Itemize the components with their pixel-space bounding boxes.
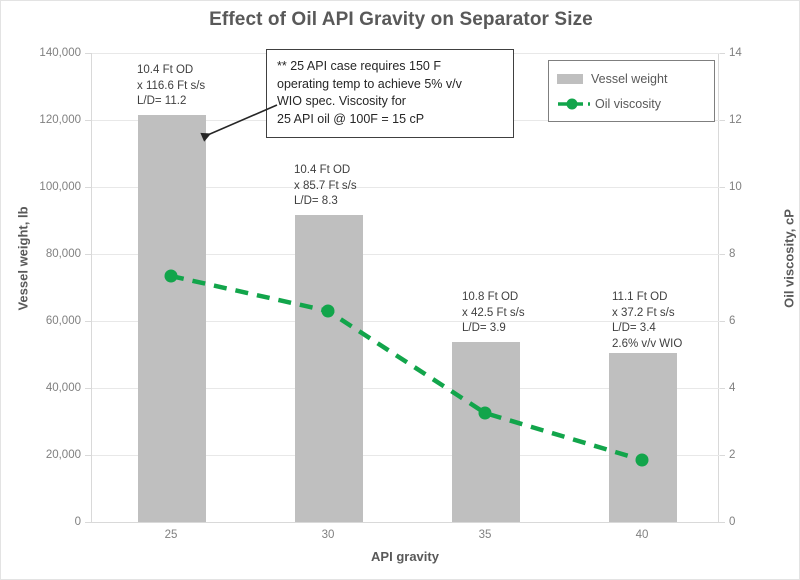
x-axis-line (91, 522, 719, 523)
viscosity-point-25[interactable] (165, 270, 178, 283)
callout-note: ** 25 API case requires 150 F operating … (266, 49, 514, 138)
legend-label: Vessel weight (591, 72, 667, 86)
callout-line: WIO spec. Viscosity for (277, 93, 503, 111)
x-axis-title: API gravity (91, 549, 719, 564)
y2-tick-label: 8 (729, 248, 769, 260)
y2-tick-label: 4 (729, 382, 769, 394)
legend-dashed-line-circle-icon (557, 97, 591, 111)
viscosity-point-40[interactable] (636, 454, 649, 467)
y-tick-label: 0 (3, 516, 81, 528)
y-tick-label: 140,000 (3, 47, 81, 59)
legend: Vessel weight Oil viscosity (548, 60, 715, 122)
viscosity-line (171, 276, 642, 460)
callout-line: ** 25 API case requires 150 F (277, 58, 503, 76)
x-tick-label-35: 35 (425, 529, 545, 541)
callout-line: operating temp to achieve 5% v/v (277, 76, 503, 94)
chart-container: Effect of Oil API Gravity on Separator S… (0, 0, 800, 580)
y-tick-label: 40,000 (3, 382, 81, 394)
callout-line: 25 API oil @ 100F = 15 cP (277, 111, 503, 129)
x-tick-label-30: 30 (268, 529, 388, 541)
y-tick-label: 80,000 (3, 248, 81, 260)
y2-tick-label: 14 (729, 47, 769, 59)
x-tick-label-40: 40 (582, 529, 702, 541)
chart-title: Effect of Oil API Gravity on Separator S… (1, 9, 800, 31)
y-tick-label: 60,000 (3, 315, 81, 327)
legend-label: Oil viscosity (595, 97, 661, 111)
y-tick-label: 100,000 (3, 181, 81, 193)
y2-tick-label: 2 (729, 449, 769, 461)
y2-tick-label: 12 (729, 114, 769, 126)
y2-tick-mark (719, 522, 725, 523)
viscosity-point-35[interactable] (479, 407, 492, 420)
legend-bar-swatch-icon (557, 74, 583, 84)
y2-tick-label: 0 (729, 516, 769, 528)
y-tick-label: 20,000 (3, 449, 81, 461)
y-tick-label: 120,000 (3, 114, 81, 126)
x-tick-label-25: 25 (111, 529, 231, 541)
y-axis-right-title: Oil viscosity, cP (782, 149, 797, 369)
callout-arrow-icon (191, 101, 281, 151)
y2-tick-label: 10 (729, 181, 769, 193)
legend-entry-oil-viscosity[interactable]: Oil viscosity (557, 94, 661, 114)
viscosity-point-30[interactable] (322, 305, 335, 318)
legend-entry-vessel-weight[interactable]: Vessel weight (557, 69, 667, 89)
